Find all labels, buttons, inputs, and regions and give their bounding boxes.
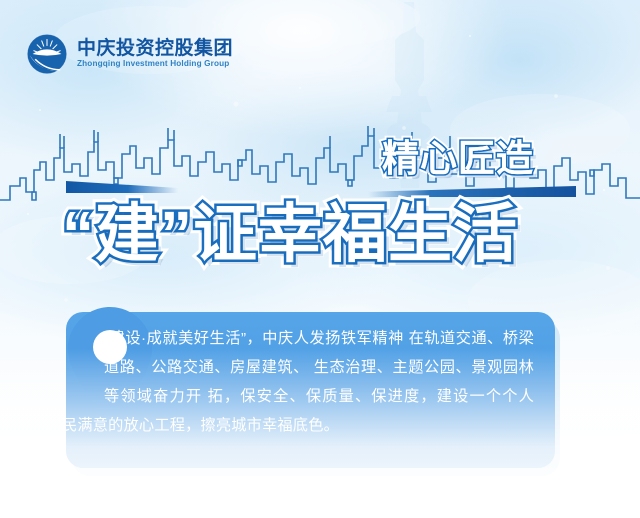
brand-text: 中庆投资控股集团 Zhongqing Investment Holding Gr… [77, 39, 233, 69]
headline-text: “建”证幸福生活 [62, 202, 518, 267]
brand-name-cn: 中庆投资控股集团 [77, 39, 233, 59]
sunrise-circle-logo-icon [26, 33, 68, 75]
callout-line-1: “建设·成就美好生活”，中庆人发扬铁军精神 [104, 330, 404, 347]
brand-name-en: Zhongqing Investment Holding Group [77, 60, 233, 69]
poster-canvas: 中庆投资控股集团 Zhongqing Investment Holding Gr… [0, 0, 640, 518]
kicker-text: 精心匠造 [382, 140, 534, 177]
brand-logo[interactable]: 中庆投资控股集团 Zhongqing Investment Holding Gr… [26, 33, 233, 75]
bottom-fade [0, 348, 640, 518]
